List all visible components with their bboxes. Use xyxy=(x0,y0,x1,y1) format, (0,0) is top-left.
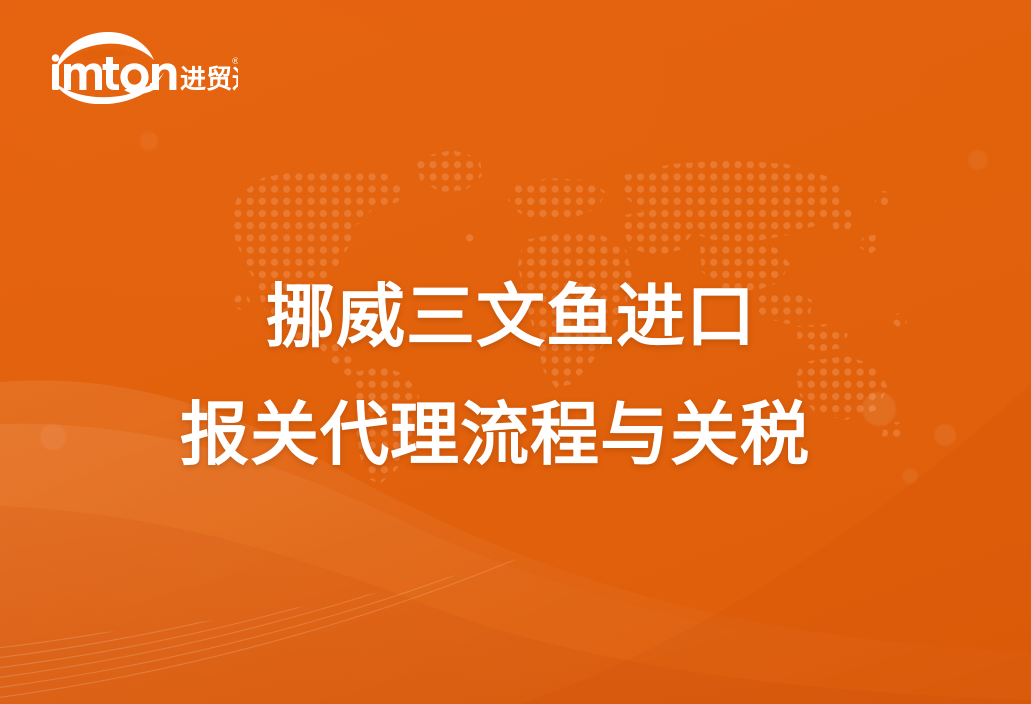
poster-title-line-1: 挪威三文鱼进口 xyxy=(266,278,756,356)
poster-title-line-2: 报关代理流程与关税 xyxy=(180,396,810,474)
title-block: 挪威三文鱼进口 报关代理流程与关税 xyxy=(0,0,1031,704)
poster-canvas: 进贸通 ® imton 进贸通 ® 挪威三文鱼进口 报关代理流程与关税 xyxy=(0,0,1031,704)
